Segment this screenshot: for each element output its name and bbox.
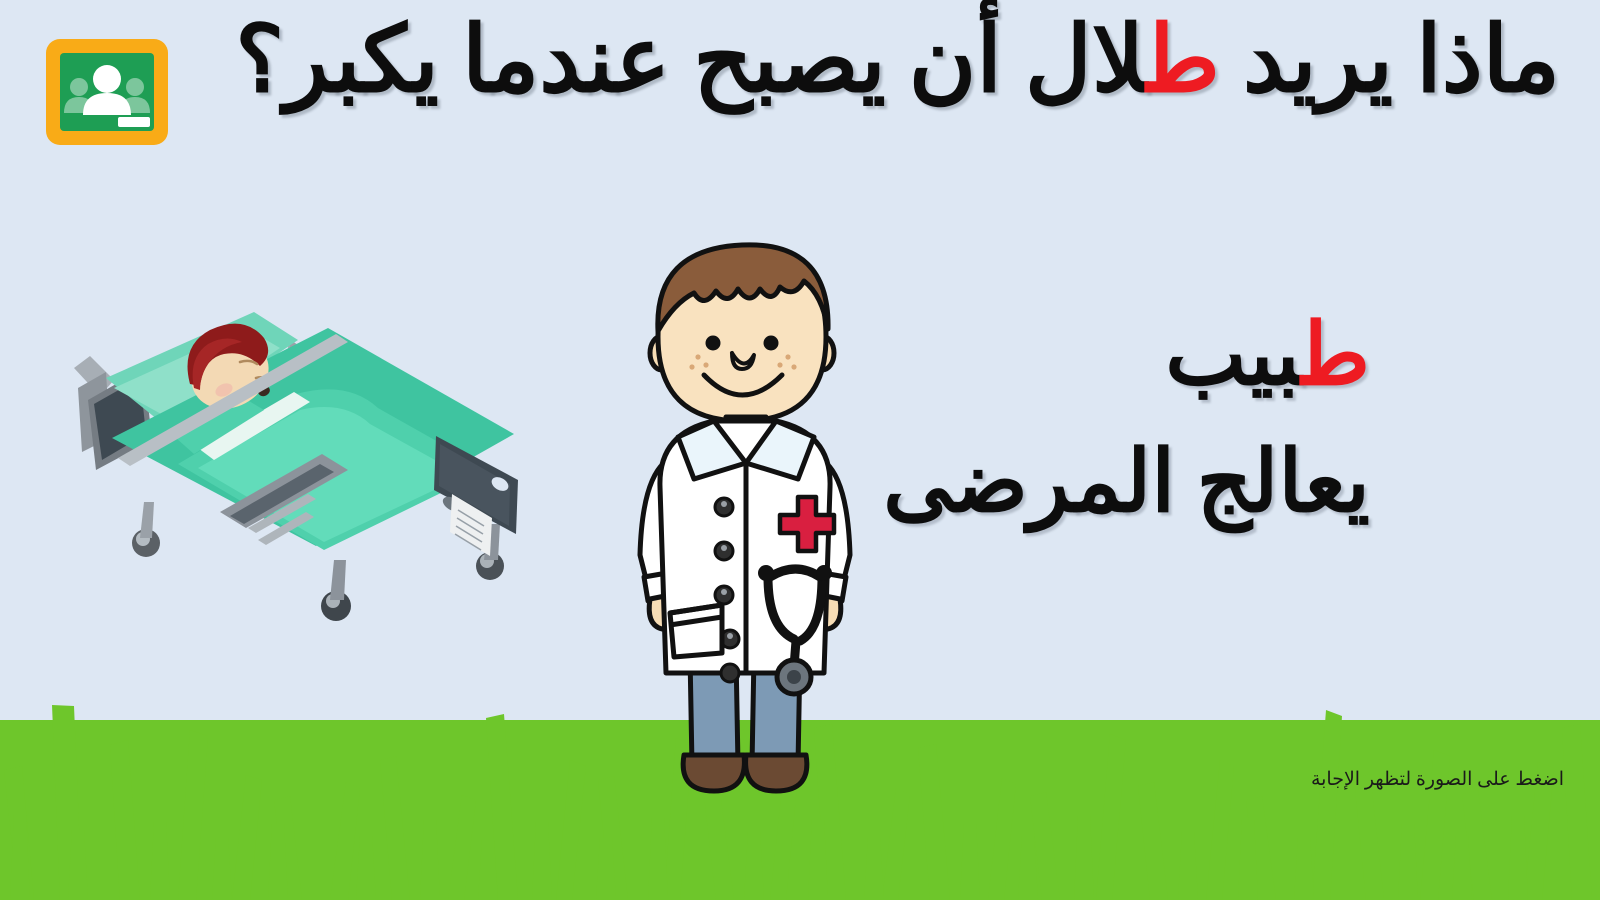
slide-canvas: ماذا يريد طلال أن يصبح عندما يكبر؟ طبيب … [0, 0, 1600, 900]
title-highlight-letter: ط [1147, 9, 1220, 111]
answer-line-description: يعالج المرضى [883, 419, 1370, 546]
answer-line-profession: طبيب [883, 292, 1370, 419]
answer-block: طبيب يعالج المرضى [883, 292, 1370, 547]
hint-text[interactable]: اضغط على الصورة لتظهر الإجابة [1311, 768, 1564, 791]
title-part-after: لال أن يصبح عندما يكبر؟ [235, 9, 1146, 111]
google-classroom-icon[interactable] [42, 33, 172, 151]
doctor-character-icon [618, 225, 873, 785]
hospital-bed-with-patient-image[interactable] [48, 288, 538, 633]
answer-highlight-letter: ط [1302, 307, 1370, 403]
slide-title: ماذا يريد طلال أن يصبح عندما يكبر؟ [190, 6, 1560, 115]
boy-doctor-image[interactable] [618, 225, 873, 785]
answer-word-rest: بيب [1165, 307, 1301, 403]
title-part-before: ماذا يريد [1220, 9, 1560, 111]
classroom-board-icon [42, 33, 172, 151]
hospital-bed-icon [48, 288, 538, 633]
